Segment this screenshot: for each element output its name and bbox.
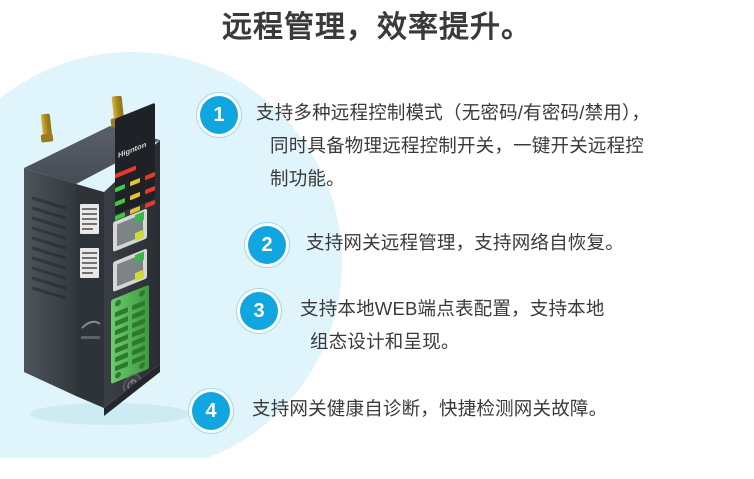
feature-item-3: 3 支持本地WEB端点表配置，支持本地组态设计和呈现。 [240,292,710,358]
feature-text-1: 支持多种远程控制模式（无密码/有密码/禁用），同时具备物理远程控制开关，一键开关… [256,96,650,195]
feature-1-line-3: 制功能。 [256,162,650,195]
device-illustration: Hignton [18,96,228,426]
feature-badge-3: 3 [240,292,278,330]
feature-2-line-1: 支持网关远程管理，支持网络自恢复。 [306,232,624,253]
feature-1-line-2: 同时具备物理远程控制开关，一键开关远程控 [256,129,650,162]
feature-item-2: 2 支持网关远程管理，支持网络自恢复。 [248,226,748,264]
feature-4-line-1: 支持网关健康自诊断，快捷检测网关故障。 [252,398,607,419]
feature-3-line-1: 支持本地WEB端点表配置，支持本地 [300,298,605,319]
antenna-left [41,114,54,143]
promo-banner: 远程管理，效率提升。 [0,0,754,479]
feature-text-4: 支持网关健康自诊断，快捷检测网关故障。 [252,392,607,425]
feature-3-line-2: 组态设计和呈现。 [300,325,605,358]
feature-badge-4: 4 [192,392,230,430]
feature-text-3: 支持本地WEB端点表配置，支持本地组态设计和呈现。 [300,292,605,358]
feature-1-line-1: 支持多种远程控制模式（无密码/有密码/禁用）， [256,102,650,123]
feature-badge-2: 2 [248,226,286,264]
feature-text-2: 支持网关远程管理，支持网络自恢复。 [306,226,624,259]
terminal-block [111,285,149,384]
feature-item-1: 1 支持多种远程控制模式（无密码/有密码/禁用），同时具备物理远程控制开关，一键… [200,96,754,195]
page-title: 远程管理，效率提升。 [0,6,754,50]
feature-badge-1: 1 [200,96,238,134]
background-blob-mask [0,458,360,479]
feature-item-4: 4 支持网关健康自诊断，快捷检测网关故障。 [192,392,712,430]
